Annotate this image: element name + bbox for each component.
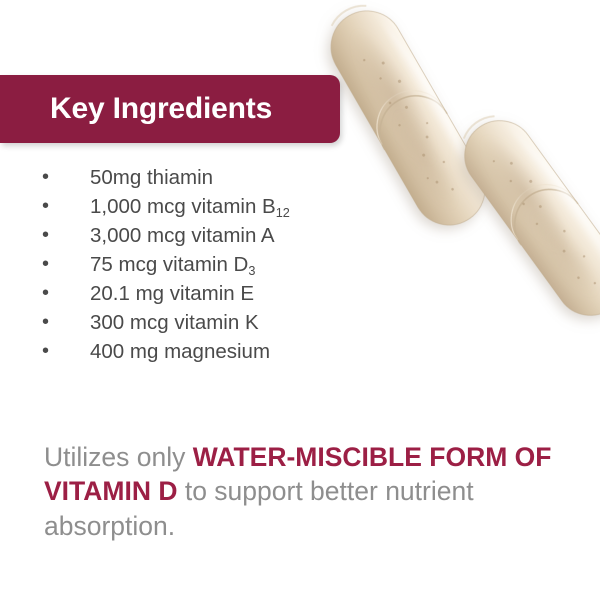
ingredient-text: 3,000 mcg vitamin A [90,224,275,247]
ingredient-label: 50mg thiamin [90,168,213,189]
ingredient-text: 400 mg magnesium [90,340,270,363]
ingredient-text: 50mg thiamin [90,166,213,189]
ingredient-text: 20.1 mg vitamin E [90,282,254,305]
list-item: • 400 mg magnesium [0,342,400,371]
key-ingredients-banner: Key Ingredients [0,75,340,143]
ingredients-list: • 50mg thiamin • 1,000 mcg vitamin B12 •… [0,168,400,371]
ingredient-label: 400 mg magnesium [90,342,270,363]
page-title: Key Ingredients [50,94,272,124]
bullet-icon: • [42,167,52,187]
ingredient-subscript: 12 [276,205,290,220]
capsule-lower [448,102,600,329]
bullet-icon: • [42,225,52,245]
bullet-icon: • [42,341,52,361]
list-item: • 20.1 mg vitamin E [0,284,400,313]
bullet-icon: • [42,254,52,274]
ingredient-text: 300 mcg vitamin K [90,311,259,334]
list-item: • 300 mcg vitamin K [0,313,400,342]
tagline: Utilizes only WATER-MISCIBLE FORM OF VIT… [44,440,564,545]
ingredient-text: 1,000 mcg vitamin B [90,195,276,218]
ingredient-label: 20.1 mg vitamin E [90,284,254,305]
ingredient-label: 300 mcg vitamin K [90,313,259,334]
list-item: • 75 mcg vitamin D3 [0,255,400,284]
key-ingredients-panel: Key Ingredients • 50mg thiamin • 1,000 m… [0,0,600,600]
list-item: • 1,000 mcg vitamin B12 [0,197,400,226]
ingredient-label: 3,000 mcg vitamin A [90,226,275,247]
ingredient-label: 1,000 mcg vitamin B12 [90,197,290,218]
ingredient-subscript: 3 [248,263,255,278]
bullet-icon: • [42,312,52,332]
bullet-icon: • [42,283,52,303]
tagline-lead: Utilizes only [44,442,193,472]
bullet-icon: • [42,196,52,216]
ingredient-text: 75 mcg vitamin D [90,253,248,276]
list-item: • 50mg thiamin [0,168,400,197]
list-item: • 3,000 mcg vitamin A [0,226,400,255]
ingredient-label: 75 mcg vitamin D3 [90,255,255,276]
